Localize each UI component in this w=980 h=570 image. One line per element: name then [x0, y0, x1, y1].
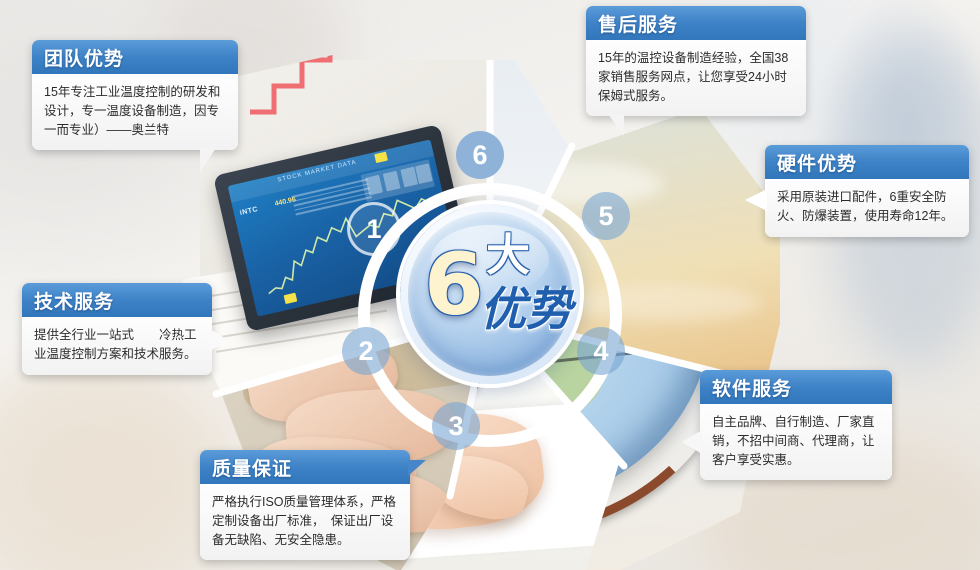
badge-4[interactable]: 4 [577, 327, 625, 375]
callout-hardware-body: 采用原装进口配件，6重安全防火、防爆装置，使用寿命12年。 [765, 179, 969, 237]
badge-2[interactable]: 2 [342, 327, 390, 375]
badge-6[interactable]: 6 [456, 131, 504, 179]
callout-hardware-tail [745, 189, 767, 211]
center-word: 优势 [480, 286, 572, 332]
callout-team-body: 15年专注工业温度控制的研发和设计，专一温度设备制造，因专一而专业）——奥兰特 [32, 74, 238, 150]
callout-hardware-title: 硬件优势 [777, 149, 857, 176]
callout-software-title: 软件服务 [712, 374, 792, 401]
badge-3[interactable]: 3 [432, 402, 480, 450]
callout-team-title: 团队优势 [44, 44, 124, 71]
center-number: 6 [424, 242, 484, 328]
callout-team-text: 15年专注工业温度控制的研发和设计，专一温度设备制造，因专一而专业）——奥兰特 [44, 83, 226, 139]
infographic-stage: STOCK MARKET DATA iNTC 440.96 [0, 0, 980, 570]
callout-aftersales-text: 15年的温控设备制造经验，全国38家销售服务网点，让您享受24小时保姆式服务。 [598, 49, 794, 105]
callout-aftersales[interactable]: 售后服务 15年的温控设备制造经验，全国38家销售服务网点，让您享受24小时保姆… [586, 6, 806, 116]
callout-tech[interactable]: 技术服务 提供全行业一站式 冷热工业温度控制方案和技术服务。 [22, 283, 212, 375]
badge-5[interactable]: 5 [582, 192, 630, 240]
callout-tech-header: 技术服务 [22, 283, 212, 317]
callout-aftersales-title: 售后服务 [598, 10, 678, 37]
chart-marker [284, 293, 298, 304]
callout-aftersales-header: 售后服务 [586, 6, 806, 40]
callout-quality-title: 质量保证 [212, 454, 292, 481]
callout-aftersales-tail [608, 114, 624, 136]
callout-team-header: 团队优势 [32, 40, 238, 74]
callout-team[interactable]: 团队优势 15年专注工业温度控制的研发和设计，专一温度设备制造，因专一而专业）—… [32, 40, 238, 150]
center-char-big: 大 [486, 234, 530, 278]
callout-tech-text: 提供全行业一站式 冷热工业温度控制方案和技术服务。 [34, 326, 200, 364]
callout-software-body: 自主品牌、自行制造、厂家直销，不招中间商、代理商，让客户享受实惠。 [700, 404, 892, 480]
callout-tech-title: 技术服务 [34, 287, 114, 314]
badge-1[interactable]: 1 [347, 202, 401, 256]
callout-aftersales-body: 15年的温控设备制造经验，全国38家销售服务网点，让您享受24小时保姆式服务。 [586, 40, 806, 116]
callout-software-text: 自主品牌、自行制造、厂家直销，不招中间商、代理商，让客户享受实惠。 [712, 413, 880, 469]
callout-tech-body: 提供全行业一站式 冷热工业温度控制方案和技术服务。 [22, 317, 212, 375]
callout-hardware[interactable]: 硬件优势 采用原装进口配件，6重安全防火、防爆装置，使用寿命12年。 [765, 145, 969, 237]
callout-software[interactable]: 软件服务 自主品牌、自行制造、厂家直销，不招中间商、代理商，让客户享受实惠。 [700, 370, 892, 480]
center-hub: 6 大 优势 [400, 204, 580, 384]
callout-software-header: 软件服务 [700, 370, 892, 404]
callout-quality-header: 质量保证 [200, 450, 410, 484]
callout-quality-tail [408, 460, 426, 476]
callout-quality-text: 严格执行ISO质量管理体系，严格定制设备出厂标准， 保证出厂设备无缺陷、无安全隐… [212, 493, 398, 549]
callout-quality[interactable]: 质量保证 严格执行ISO质量管理体系，严格定制设备出厂标准， 保证出厂设备无缺陷… [200, 450, 410, 560]
callout-hardware-text: 采用原装进口配件，6重安全防火、防爆装置，使用寿命12年。 [777, 188, 957, 226]
background-blob [0, 360, 220, 570]
ticker-brand: iNTC [239, 206, 258, 217]
callout-software-tail [682, 430, 702, 454]
callout-team-tail [200, 148, 216, 172]
callout-quality-body: 严格执行ISO质量管理体系，严格定制设备出厂标准， 保证出厂设备无缺陷、无安全隐… [200, 484, 410, 560]
center-hub-inner: 6 大 优势 [408, 212, 572, 376]
callout-tech-tail [210, 329, 228, 351]
callout-hardware-header: 硬件优势 [765, 145, 969, 179]
